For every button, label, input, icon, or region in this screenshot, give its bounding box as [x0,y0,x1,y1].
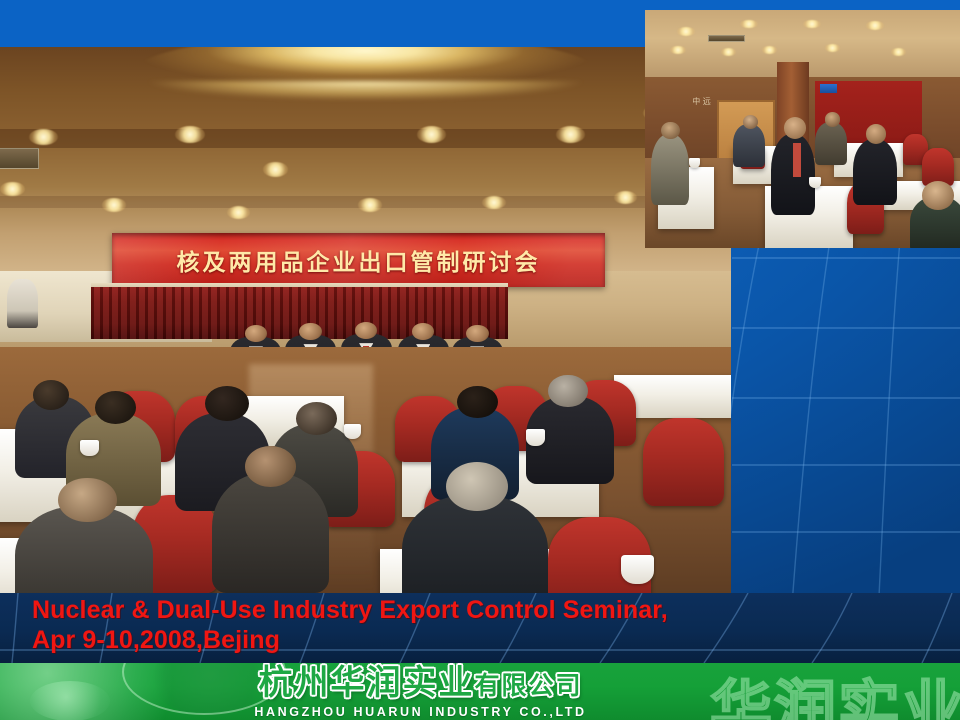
tea-cup [621,555,653,584]
tr-monitor [820,84,837,94]
conference-hall-photo: 核及两用品企业出口管制研讨会 [0,47,731,593]
footer-watermark: 华润实业 [710,663,960,720]
wall-logo: 中 远 [692,96,727,108]
tr-person-head [825,112,841,126]
company-logo: 杭州华润实业有限公司 HANGZHOU HUARUN INDUSTRY CO.,… [193,664,648,720]
chandelier-crystals [95,81,636,134]
audience-person-head [446,462,508,511]
tr-tea-cup [689,158,700,168]
audience-person [212,473,329,593]
presentation-slide: 核及两用品企业出口管制研讨会 [0,0,960,720]
tr-person-head [784,117,806,138]
tea-cup [344,424,362,439]
company-footer: 华润实业 杭州华润实业有限公司 HANGZHOU HUARUN INDUSTRY… [0,663,960,720]
banner-text: 核及两用品企业出口管制研讨会 [177,243,541,277]
audience-person-head [548,375,587,408]
tr-person [853,139,897,206]
seminar-attendees-photo: 中 远 [645,10,960,248]
tr-person [651,134,689,205]
tr-necktie [793,143,801,176]
red-banner: 核及两用品企业出口管制研讨会 [112,233,605,287]
seminar-title-line1: Nuclear & Dual-Use Industry Export Contr… [32,595,668,625]
tea-cup [526,429,545,445]
company-logo-en: HANGZHOU HUARUN INDUSTRY CO.,LTD [193,705,648,720]
title-band: Nuclear & Dual-Use Industry Export Contr… [0,593,960,663]
audience-chair [643,418,723,505]
tr-person-head [661,122,680,140]
footer-bubble-decor [30,681,110,720]
company-logo-cn-suffix: 有限公司 [474,671,582,700]
tr-person [815,122,847,165]
audience-person-head [457,386,498,419]
seminar-title: Nuclear & Dual-Use Industry Export Contr… [32,595,668,655]
audience-person-head [296,402,337,435]
tr-person [733,124,765,167]
audience-person-head [245,446,296,487]
company-logo-cn-main: 杭州华润实业 [258,663,474,703]
tr-person-head [922,181,954,210]
audience-person-head [95,391,136,424]
company-logo-cn: 杭州华润实业有限公司 [193,664,648,705]
audience-person-head [58,478,116,522]
audience-person-head [205,386,249,421]
camera-operator [7,279,38,328]
seminar-title-line2: Apr 9-10,2008,Bejing [32,625,668,655]
